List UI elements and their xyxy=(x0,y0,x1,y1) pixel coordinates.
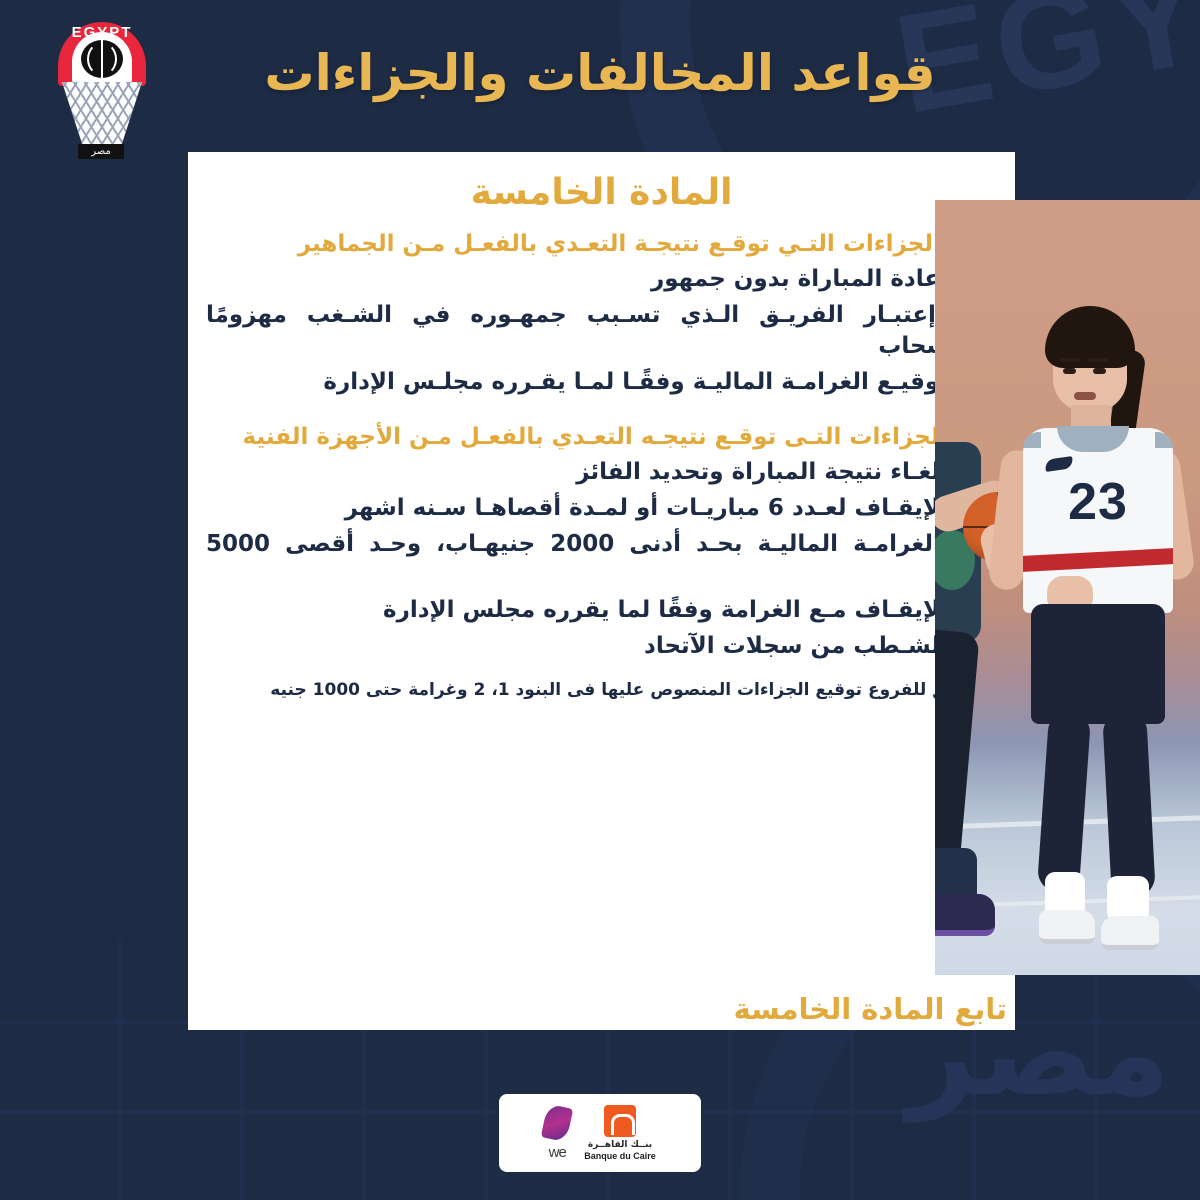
rule-item: (1) إعادة المباراة بدون جمهور xyxy=(206,264,993,295)
player-mouth xyxy=(1074,392,1096,400)
card-heading: المادة الخامسة xyxy=(188,152,1015,213)
we-label: we xyxy=(544,1144,570,1161)
rule-item: (2) إعتبـار الفريـق الـذي تسـبب جمهـوره … xyxy=(206,300,993,362)
sponsor-banque-du-caire[interactable]: بنــك القاهــرة Banque du Caire xyxy=(584,1105,656,1162)
player-eyebrow xyxy=(1089,358,1109,362)
section-title-j: (ج) الجزاءات التـى توقـع نتيجـه التعـدي … xyxy=(206,422,993,452)
page-title: قواعد المخالفات والجزاءات xyxy=(0,44,1200,102)
player-shoe xyxy=(1039,910,1095,944)
logo-masr-text: مصر xyxy=(78,144,124,159)
section-title-b: (ب) الجزاءات التـي توقـع نتيجـة التعـدي … xyxy=(206,229,993,259)
continued-label: تابع المادة الخامسة xyxy=(733,992,1007,1026)
footnote: يحـق للفروع توقيع الجزاءات المنصوص عليها… xyxy=(206,678,993,704)
banque-du-caire-arabic: بنــك القاهــرة xyxy=(584,1140,656,1151)
sponsor-we[interactable]: we xyxy=(544,1106,570,1161)
logo-egypt-text: EGYPT xyxy=(58,24,146,41)
rule-item: (3) الغرامـة الماليـة بحـد أدنى 2000 جني… xyxy=(206,529,993,591)
player-shoe xyxy=(1101,916,1159,950)
rule-item: (2) الإيقـاف لعـدد 6 مباريـات أو لمـدة أ… xyxy=(206,493,993,524)
footnote-text: يحـق للفروع توقيع الجزاءات المنصوص عليها… xyxy=(216,678,972,704)
sponsor-bar: بنــك القاهــرة Banque du Caire we xyxy=(499,1094,701,1172)
player-eye xyxy=(1063,368,1076,374)
rule-item: (4) الإيقـاف مـع الغرامة وفقًا لما يقرره… xyxy=(206,595,993,626)
rules-content: (ب) الجزاءات التـي توقـع نتيجـة التعـدي … xyxy=(188,213,1015,703)
jersey-number: 23 xyxy=(1023,472,1173,532)
rule-item: (1) إلغـاء نتيجة المباراة وتحديد الفائز xyxy=(206,457,993,488)
content-card: المادة الخامسة (ب) الجزاءات التـي توقـع … xyxy=(188,152,1015,1030)
player-shorts xyxy=(1031,604,1165,724)
page-header: EGYPT مصر قواعد المخالفات والجزاءات xyxy=(0,0,1200,152)
banque-du-caire-icon xyxy=(604,1105,636,1137)
banque-du-caire-latin: Banque du Caire xyxy=(584,1151,656,1162)
player-eyebrow xyxy=(1060,358,1080,362)
rule-item: (5) الشـطب من سجلات الآتحاد xyxy=(206,631,993,662)
basketball-players-photo: 23 xyxy=(935,200,1200,975)
defender-shoe xyxy=(935,894,995,936)
player-eye xyxy=(1093,368,1106,374)
rule-item: (3) توقيـع الغرامـة الماليـة وفقًـا لمـا… xyxy=(206,367,993,398)
we-flame-icon xyxy=(541,1103,574,1142)
